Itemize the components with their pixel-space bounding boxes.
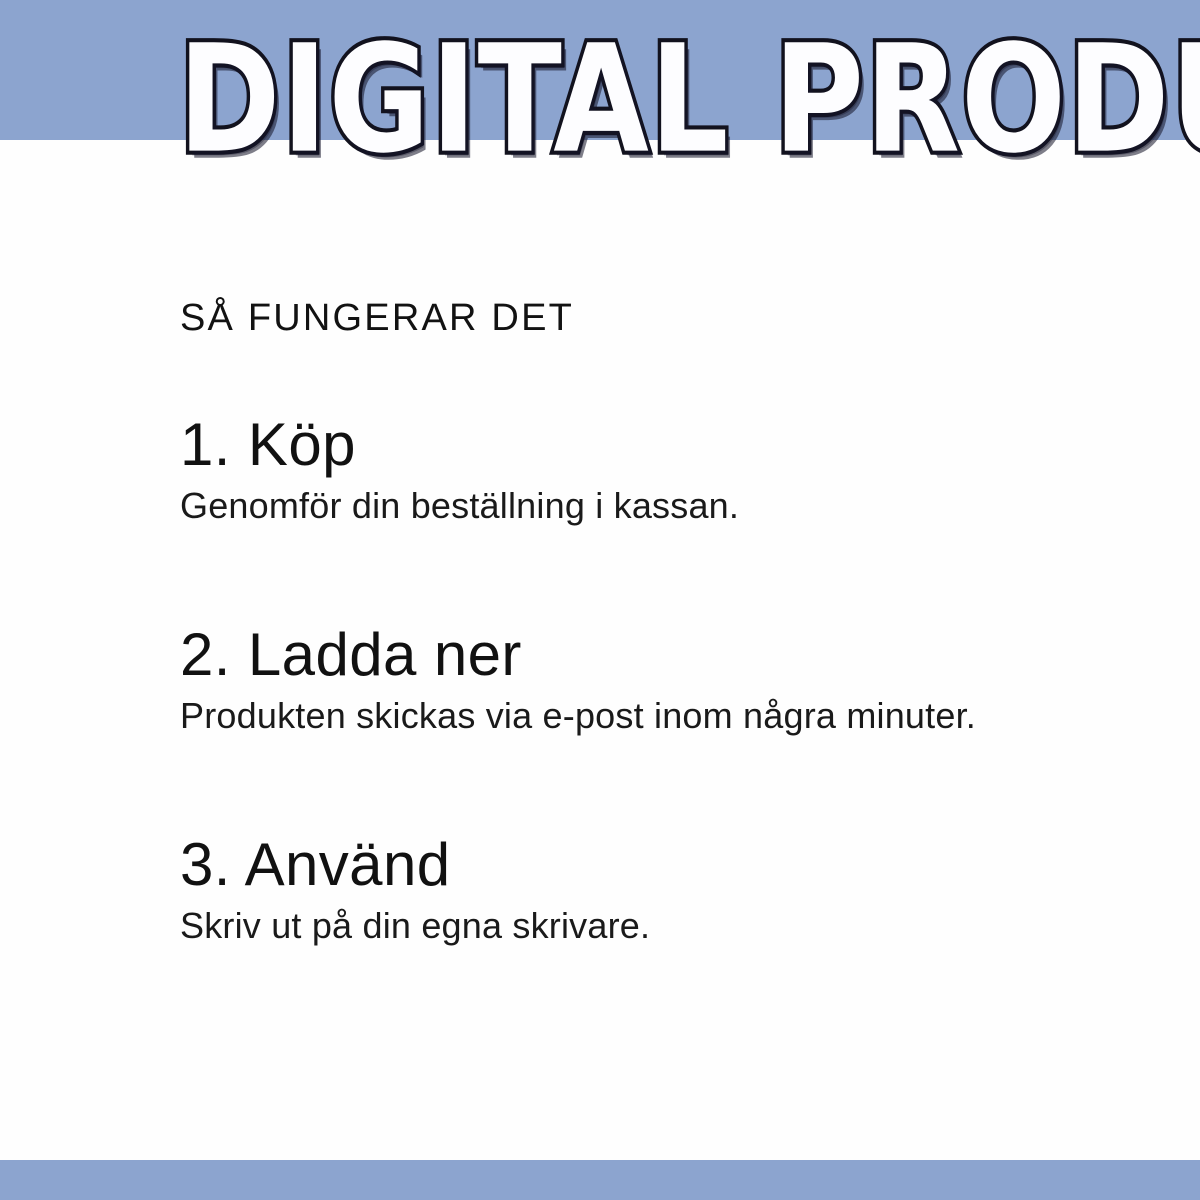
step-2-heading: 2. Ladda ner: [180, 622, 1080, 688]
step-1-heading: 1. Köp: [180, 412, 1080, 478]
step-1-description: Genomför din beställning i kassan.: [180, 484, 1080, 528]
step-3-heading: 3. Använd: [180, 832, 1080, 898]
top-color-band: [0, 0, 1200, 140]
step-2-description: Produkten skickas via e-post inom några …: [180, 694, 1080, 738]
bottom-color-band: [0, 1160, 1200, 1200]
step-3-description: Skriv ut på din egna skrivare.: [180, 904, 1080, 948]
list-item: 1. Köp Genomför din beställning i kassan…: [180, 412, 1080, 528]
list-item: 2. Ladda ner Produkten skickas via e-pos…: [180, 622, 1080, 738]
list-item: 3. Använd Skriv ut på din egna skrivare.: [180, 832, 1080, 948]
poster-canvas: DIGITAL PRODUKT SÅ FUNGERAR DET 1. Köp G…: [0, 0, 1200, 1200]
steps-list: 1. Köp Genomför din beställning i kassan…: [180, 412, 1080, 948]
content-area: SÅ FUNGERAR DET 1. Köp Genomför din best…: [180, 296, 1080, 948]
section-eyebrow-heading: SÅ FUNGERAR DET: [180, 296, 1080, 340]
